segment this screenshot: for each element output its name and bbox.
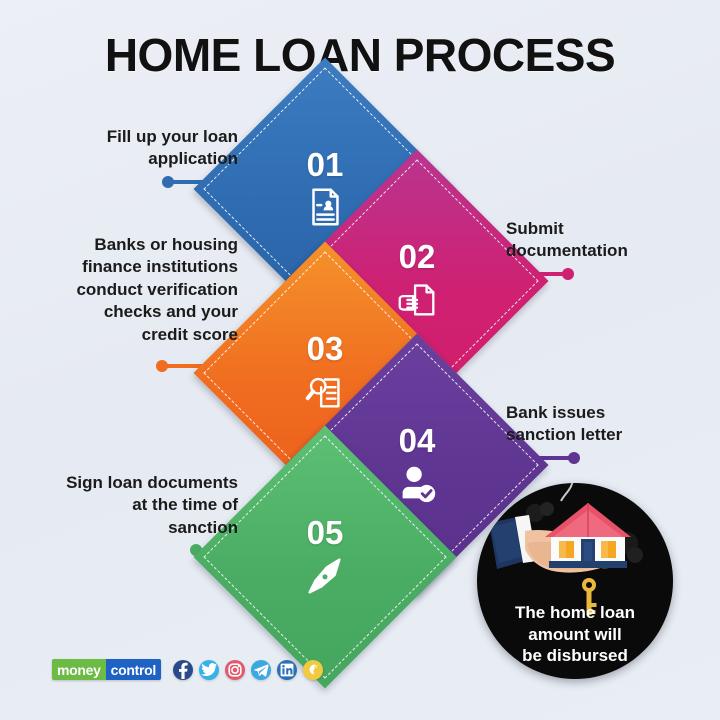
step-number-2: 02	[399, 240, 436, 273]
step-content-5: 05	[232, 464, 418, 650]
facebook-icon[interactable]	[173, 660, 193, 680]
infographic-canvas: HOME LOAN PROCESS 01	[0, 0, 720, 720]
logo-money-text: money	[52, 659, 106, 680]
koo-icon[interactable]	[303, 660, 323, 680]
step-number-4: 04	[399, 424, 436, 457]
step-label-1-line2: application	[30, 148, 238, 170]
final-text-line2: amount will	[477, 624, 673, 646]
page-title: HOME LOAN PROCESS	[0, 28, 720, 82]
step-number-5: 05	[307, 516, 344, 549]
step-number-1: 01	[307, 148, 344, 181]
social-icons	[173, 660, 323, 680]
telegram-icon[interactable]	[251, 660, 271, 680]
step-diamond-5[interactable]: 05	[193, 425, 456, 688]
pen-nib-icon	[302, 552, 348, 598]
step-number-3: 03	[307, 332, 344, 365]
step-label-2-line1: Submit	[506, 218, 696, 240]
step-label-5-line1: Sign loan documents	[18, 472, 238, 494]
instagram-icon[interactable]	[225, 660, 245, 680]
step-label-4: Bank issues sanction letter	[506, 402, 696, 447]
step-label-2: Submit documentation	[506, 218, 696, 263]
connector-dot-step-1	[162, 176, 174, 188]
step-label-3-line2: finance institutions	[22, 256, 238, 278]
logo-control-text: control	[106, 659, 161, 680]
step-label-3-line1: Banks or housing	[22, 234, 238, 256]
step-label-5-line3: sanction	[18, 517, 238, 539]
connector-dot-step-2	[562, 268, 574, 280]
linkedin-icon[interactable]	[277, 660, 297, 680]
step-label-3-line4: checks and your	[22, 301, 238, 323]
connector-dot-step-4	[568, 452, 580, 464]
step-label-1: Fill up your loan application	[30, 126, 238, 171]
step-label-5: Sign loan documents at the time of sanct…	[18, 472, 238, 539]
final-text-line1: The home loan	[477, 602, 673, 624]
moneycontrol-logo[interactable]: money control	[52, 659, 161, 680]
step-label-3-line5: credit score	[22, 324, 238, 346]
final-outcome-circle[interactable]: The home loan amount will be disbursed	[477, 483, 673, 679]
connector-dot-step-3	[156, 360, 168, 372]
step-label-3-line3: conduct verification	[22, 279, 238, 301]
final-text-line3: be disbursed	[477, 645, 673, 667]
footer: money control	[52, 659, 323, 680]
step-label-4-line2: sanction letter	[506, 424, 696, 446]
step-label-2-line2: documentation	[506, 240, 696, 262]
step-label-4-line1: Bank issues	[506, 402, 696, 424]
step-label-3: Banks or housing finance institutions co…	[22, 234, 238, 346]
step-label-5-line2: at the time of	[18, 494, 238, 516]
step-label-1-line1: Fill up your loan	[30, 126, 238, 148]
final-outcome-text: The home loan amount will be disbursed	[477, 602, 673, 667]
twitter-icon[interactable]	[199, 660, 219, 680]
